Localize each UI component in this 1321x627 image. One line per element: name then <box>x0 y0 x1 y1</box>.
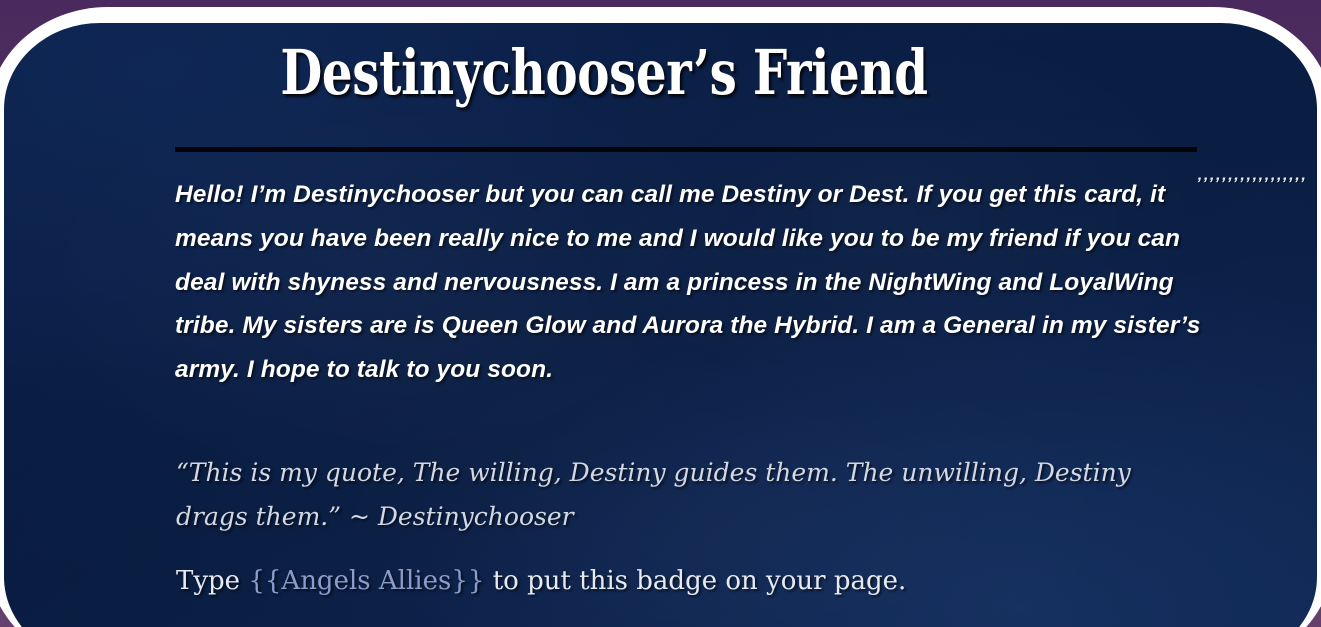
badge-instruction: Type {{Angels Allies}} to put this badge… <box>176 564 1176 598</box>
title-divider <box>175 147 1197 152</box>
introduction-paragraph: Hello! I’m Destinychooser but you can ca… <box>175 173 1210 392</box>
signature-quote: “This is my quote, The willing, Destiny … <box>176 451 1176 539</box>
badge-card: Destinychooser’s Friend Hello! I’m Desti… <box>4 23 1317 627</box>
badge-instruction-prefix: Type <box>176 566 248 596</box>
page-title: Destinychooser’s Friend <box>136 40 1072 105</box>
badge-instruction-suffix: to put this badge on your page. <box>484 566 906 596</box>
badge-code-token[interactable]: {{Angels Allies}} <box>248 566 484 596</box>
page-background: Destinychooser’s Friend Hello! I’m Desti… <box>0 0 1321 627</box>
stray-apostrophe-marks: ’’’’’’’’’’’’’’’’’’ <box>1196 175 1316 192</box>
card-content: Destinychooser’s Friend Hello! I’m Desti… <box>4 23 1317 627</box>
